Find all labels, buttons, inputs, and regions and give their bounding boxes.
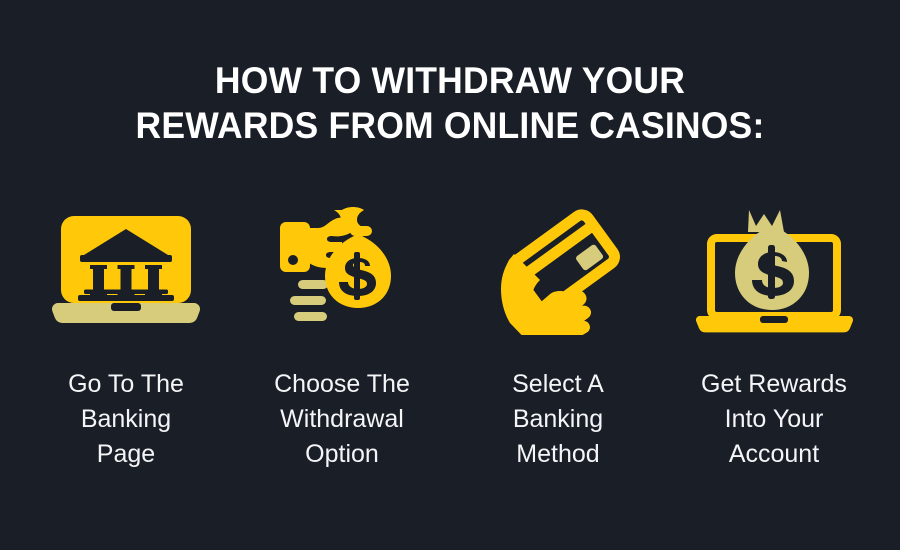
step-caption-3-line-3: Method <box>512 437 604 472</box>
step-caption-2-line-2: Withdrawal <box>274 402 410 437</box>
step-caption-3-line-1: Select A <box>512 367 604 402</box>
laptop-bank-icon <box>36 200 216 340</box>
step-caption-2-line-1: Choose The <box>274 367 410 402</box>
laptop-base-notch <box>111 303 141 311</box>
step-caption-4-line-1: Get Rewards <box>701 367 847 402</box>
step-caption-4-line-2: Into Your <box>701 402 847 437</box>
laptop-money-bag-icon <box>684 200 864 340</box>
page-title-line-2: REWARDS FROM ONLINE CASINOS: <box>56 103 843 148</box>
step-caption-4-line-3: Account <box>701 437 847 472</box>
hand-credit-card-icon <box>468 200 648 340</box>
step-item-1: Go To The Banking Page <box>18 200 234 472</box>
step-caption-3-line-2: Banking <box>512 402 604 437</box>
step-caption-1-line-1: Go To The <box>68 367 184 402</box>
step-caption-2-line-3: Option <box>274 437 410 472</box>
step-caption-4: Get Rewards Into Your Account <box>701 367 847 472</box>
step-caption-1: Go To The Banking Page <box>68 367 184 472</box>
steps-row: Go To The Banking Page <box>0 200 900 472</box>
step-item-2: Choose The Withdrawal Option <box>234 200 450 472</box>
step-item-4: Get Rewards Into Your Account <box>666 200 882 472</box>
step-caption-2: Choose The Withdrawal Option <box>274 367 410 472</box>
motion-lines-glyph <box>290 280 328 321</box>
hand-money-bag-icon <box>252 200 432 340</box>
page-title-line-1: HOW TO WITHDRAW YOUR <box>56 58 843 103</box>
page-title: HOW TO WITHDRAW YOUR REWARDS FROM ONLINE… <box>0 58 900 148</box>
step-caption-3: Select A Banking Method <box>512 367 604 472</box>
step-caption-1-line-2: Banking <box>68 402 184 437</box>
step-item-3: Select A Banking Method <box>450 200 666 472</box>
step-caption-1-line-3: Page <box>68 437 184 472</box>
laptop-base-notch <box>760 316 788 323</box>
